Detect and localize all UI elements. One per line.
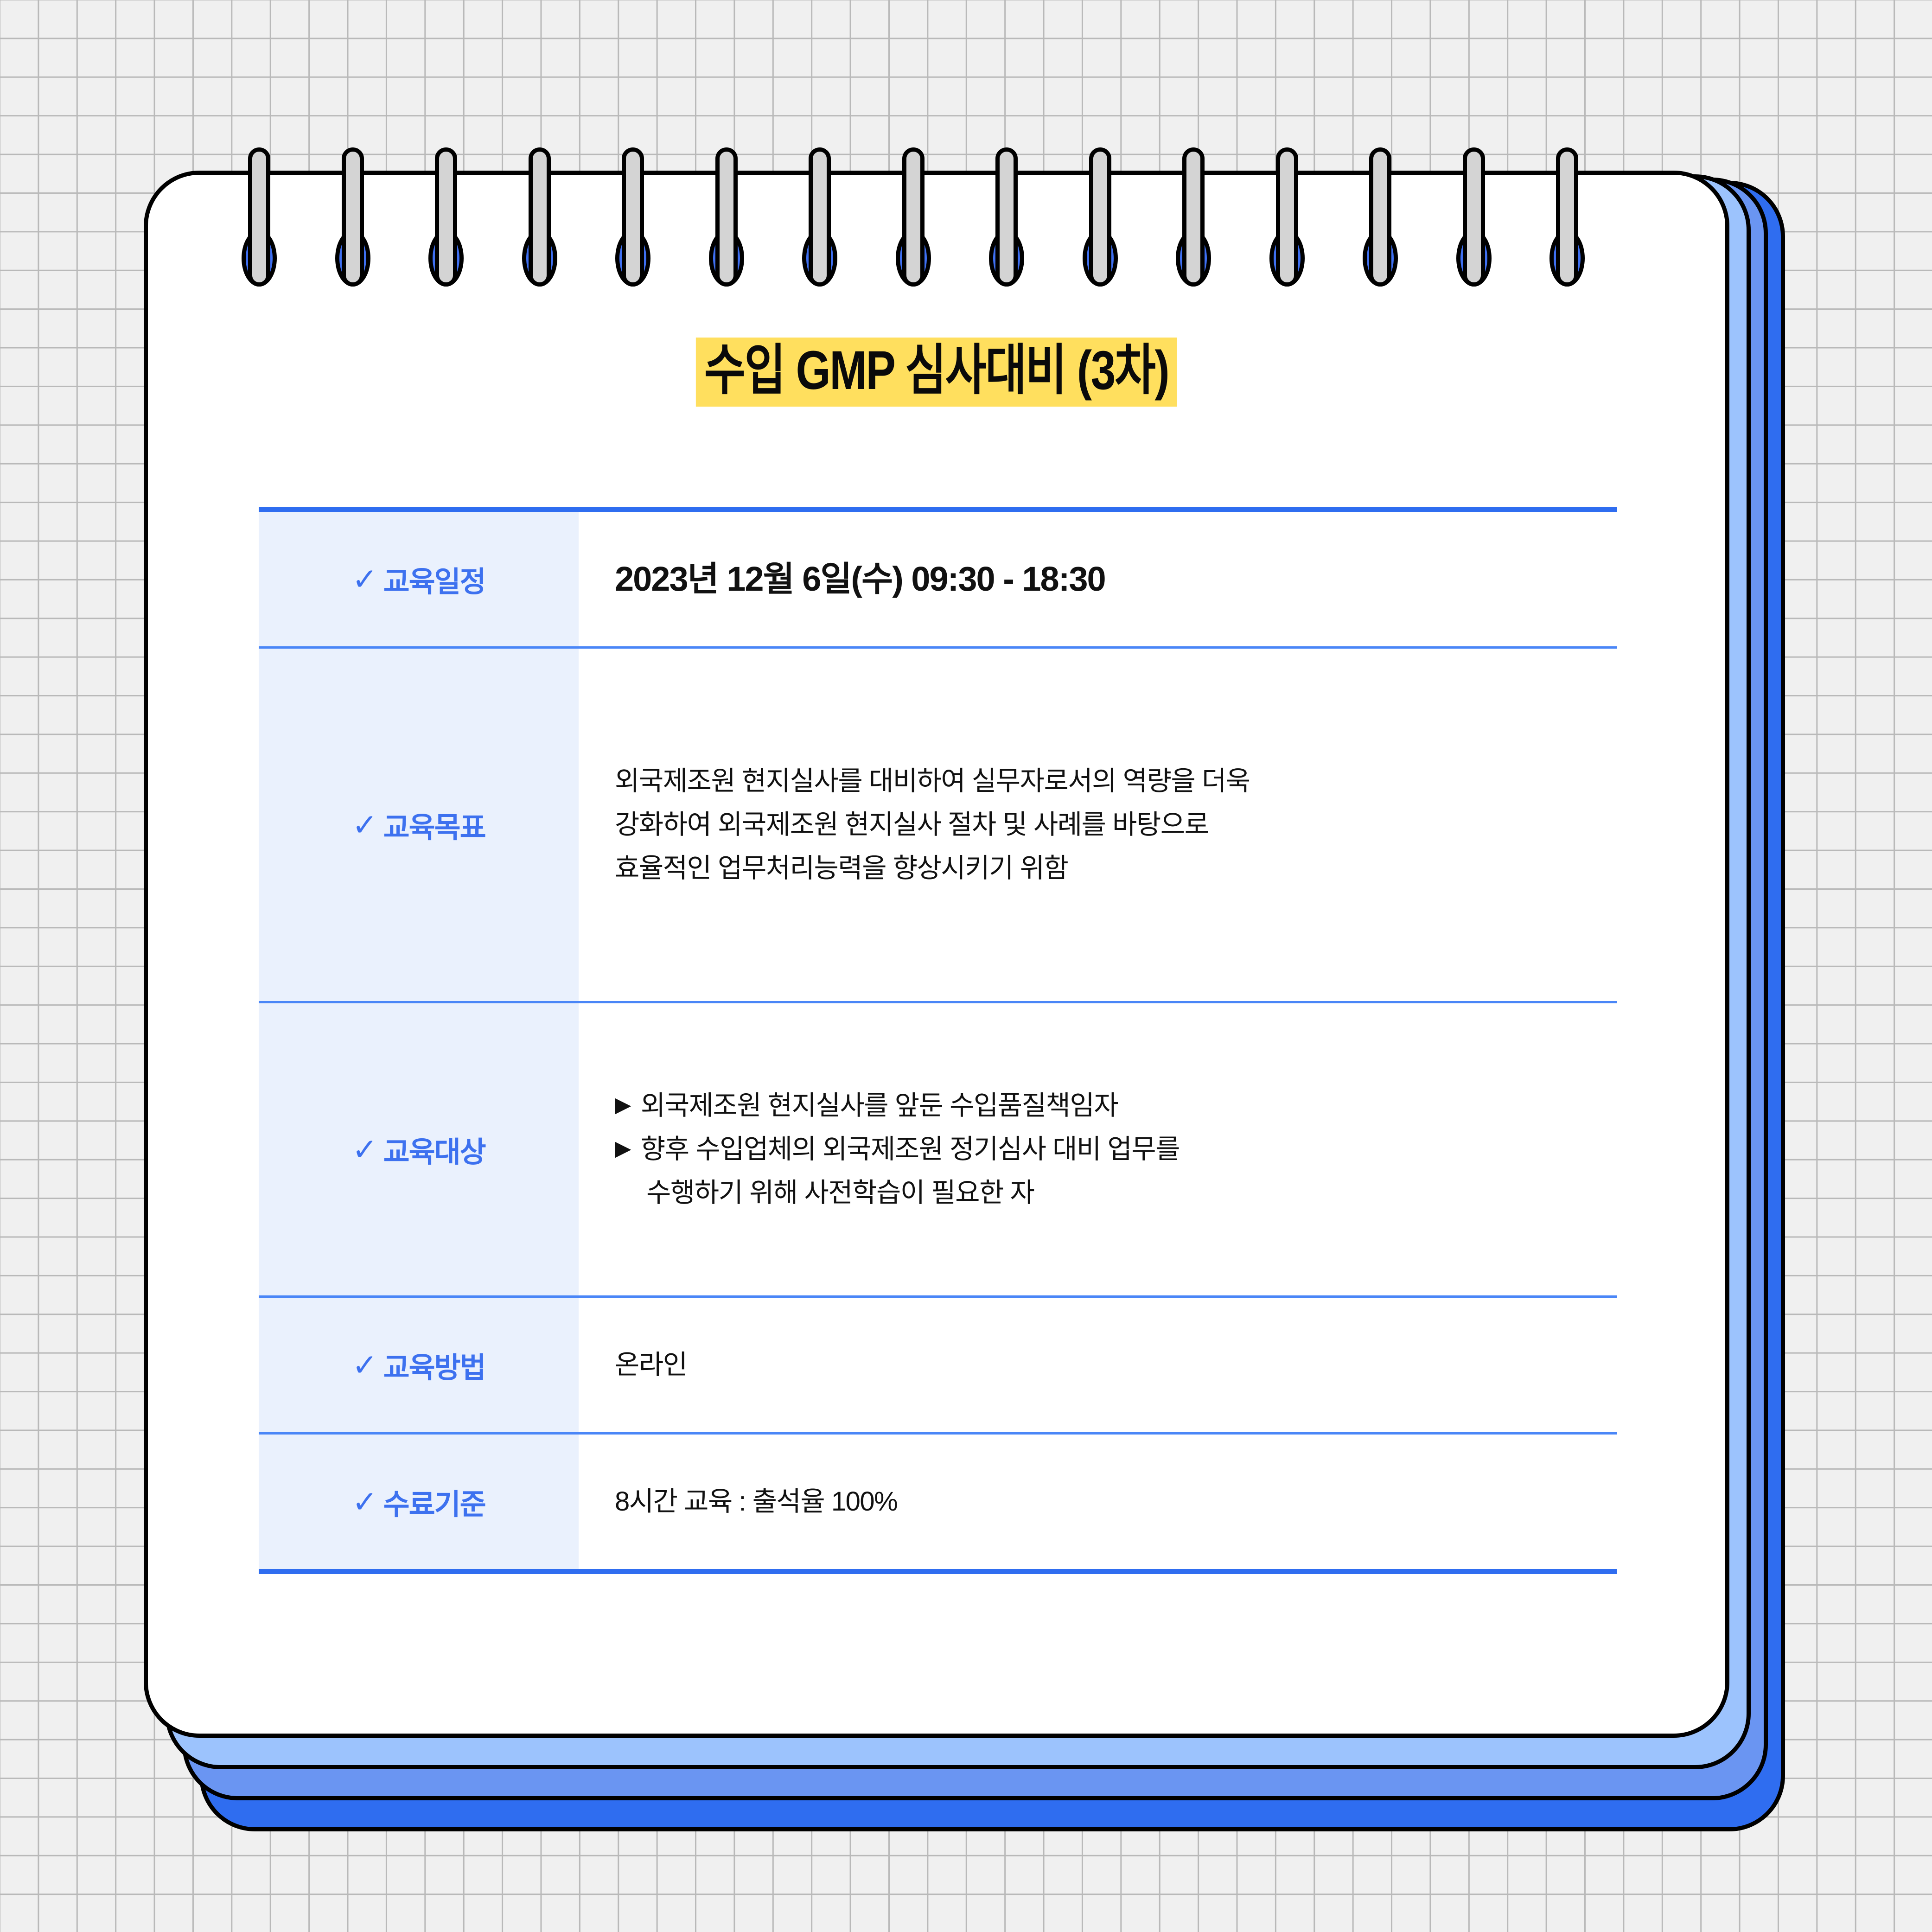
- row-value-cell-criteria: 8시간 교육 : 출석율 100%: [579, 1435, 1617, 1569]
- triangle-bullet-icon: ▶: [615, 1128, 631, 1169]
- row-label-schedule: ✓ 교육일정: [352, 558, 485, 600]
- row-value-cell-target: ▶ 외국제조원 현지실사를 앞둔 수입품질책임자 ▶ 향후 수입업체의 외국제조…: [579, 1003, 1617, 1295]
- row-label-criteria: ✓ 수료기준: [352, 1481, 485, 1523]
- row-label-cell-criteria: ✓ 수료기준: [259, 1435, 579, 1569]
- info-table: ✓ 교육일정 2023년 12월 6일(수) 09:30 - 18:30 ✓ 교…: [259, 507, 1617, 1574]
- page-title: 수입 GMP 심사대비 (3차): [696, 338, 1177, 407]
- row-label-objective: ✓ 교육목표: [352, 804, 485, 846]
- list-item: ▶ 향후 수입업체의 외국제조원 정기심사 대비 업무를: [615, 1128, 1589, 1171]
- row-label-text: 교육방법: [383, 1344, 485, 1386]
- page-title-wrap: 수입 GMP 심사대비 (3차): [144, 338, 1729, 407]
- row-value-line: 외국제조원 현지실사를 대비하여 실무자로서의 역량을 더욱: [615, 759, 1589, 803]
- check-icon: ✓: [352, 1134, 376, 1165]
- row-label-text: 교육대상: [383, 1129, 485, 1170]
- table-row: ✓ 교육대상 ▶ 외국제조원 현지실사를 앞둔 수입품질책임자 ▶ 향후 수입업…: [259, 1003, 1617, 1298]
- row-label-text: 수료기준: [383, 1481, 485, 1523]
- row-value-cell-objective: 외국제조원 현지실사를 대비하여 실무자로서의 역량을 더욱 강화하여 외국제조…: [579, 649, 1617, 1001]
- row-label-cell-schedule: ✓ 교육일정: [259, 512, 579, 646]
- row-value-text: 온라인: [615, 1343, 1589, 1387]
- table-row: ✓ 교육목표 외국제조원 현지실사를 대비하여 실무자로서의 역량을 더욱 강화…: [259, 649, 1617, 1003]
- check-icon: ✓: [352, 1486, 376, 1517]
- row-label-target: ✓ 교육대상: [352, 1129, 485, 1170]
- triangle-bullet-icon: ▶: [615, 1084, 631, 1126]
- check-icon: ✓: [352, 810, 376, 840]
- row-label-text: 교육일정: [383, 558, 485, 600]
- list-item-continuation: 수행하기 위해 사전학습이 필요한 자: [615, 1171, 1589, 1215]
- check-icon: ✓: [352, 1350, 376, 1380]
- row-label-text: 교육목표: [383, 804, 485, 846]
- list-item-text: 외국제조원 현지실사를 앞둔 수입품질책임자: [641, 1084, 1589, 1128]
- poster-content: 수입 GMP 심사대비 (3차) ✓ 교육일정 2023년 12월 6일(수) …: [144, 171, 1729, 1738]
- check-icon: ✓: [352, 564, 376, 594]
- row-value-cell-schedule: 2023년 12월 6일(수) 09:30 - 18:30: [579, 512, 1617, 646]
- row-value-line: 강화하여 외국제조원 현지실사 절차 및 사례를 바탕으로: [615, 803, 1589, 847]
- list-item-text: 향후 수입업체의 외국제조원 정기심사 대비 업무를: [641, 1128, 1589, 1171]
- table-row: ✓ 교육일정 2023년 12월 6일(수) 09:30 - 18:30: [259, 512, 1617, 649]
- row-label-cell-objective: ✓ 교육목표: [259, 649, 579, 1001]
- row-value-text: 2023년 12월 6일(수) 09:30 - 18:30: [615, 559, 1589, 600]
- row-label-cell-method: ✓ 교육방법: [259, 1298, 579, 1432]
- row-label-cell-target: ✓ 교육대상: [259, 1003, 579, 1295]
- row-value-cell-method: 온라인: [579, 1298, 1617, 1432]
- list-item: ▶ 외국제조원 현지실사를 앞둔 수입품질책임자: [615, 1084, 1589, 1128]
- table-row: ✓ 교육방법 온라인: [259, 1298, 1617, 1435]
- row-label-method: ✓ 교육방법: [352, 1344, 485, 1386]
- table-row: ✓ 수료기준 8시간 교육 : 출석율 100%: [259, 1435, 1617, 1569]
- row-value-text: 8시간 교육 : 출석율 100%: [615, 1480, 1589, 1524]
- row-value-line: 효율적인 업무처리능력을 향상시키기 위함: [615, 847, 1589, 890]
